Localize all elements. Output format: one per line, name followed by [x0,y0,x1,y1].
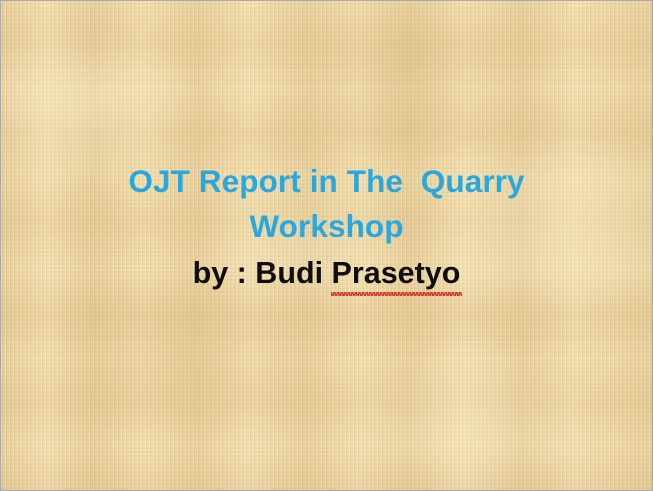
presentation-slide: OJT Report in The Quarry Workshop by : B… [0,0,653,491]
byline-prefix: by : Budi [193,256,332,290]
slide-byline-block[interactable]: by : Budi Prasetyo [1,253,652,293]
byline-author-name: Prasetyo [332,253,461,293]
slide-title-line-1: OJT Report in The Quarry [1,159,652,204]
slide-title-block[interactable]: OJT Report in The Quarry Workshop by : B… [1,159,652,293]
slide-title-line-2: Workshop [1,204,652,249]
byline-author-text: Prasetyo [332,256,461,290]
